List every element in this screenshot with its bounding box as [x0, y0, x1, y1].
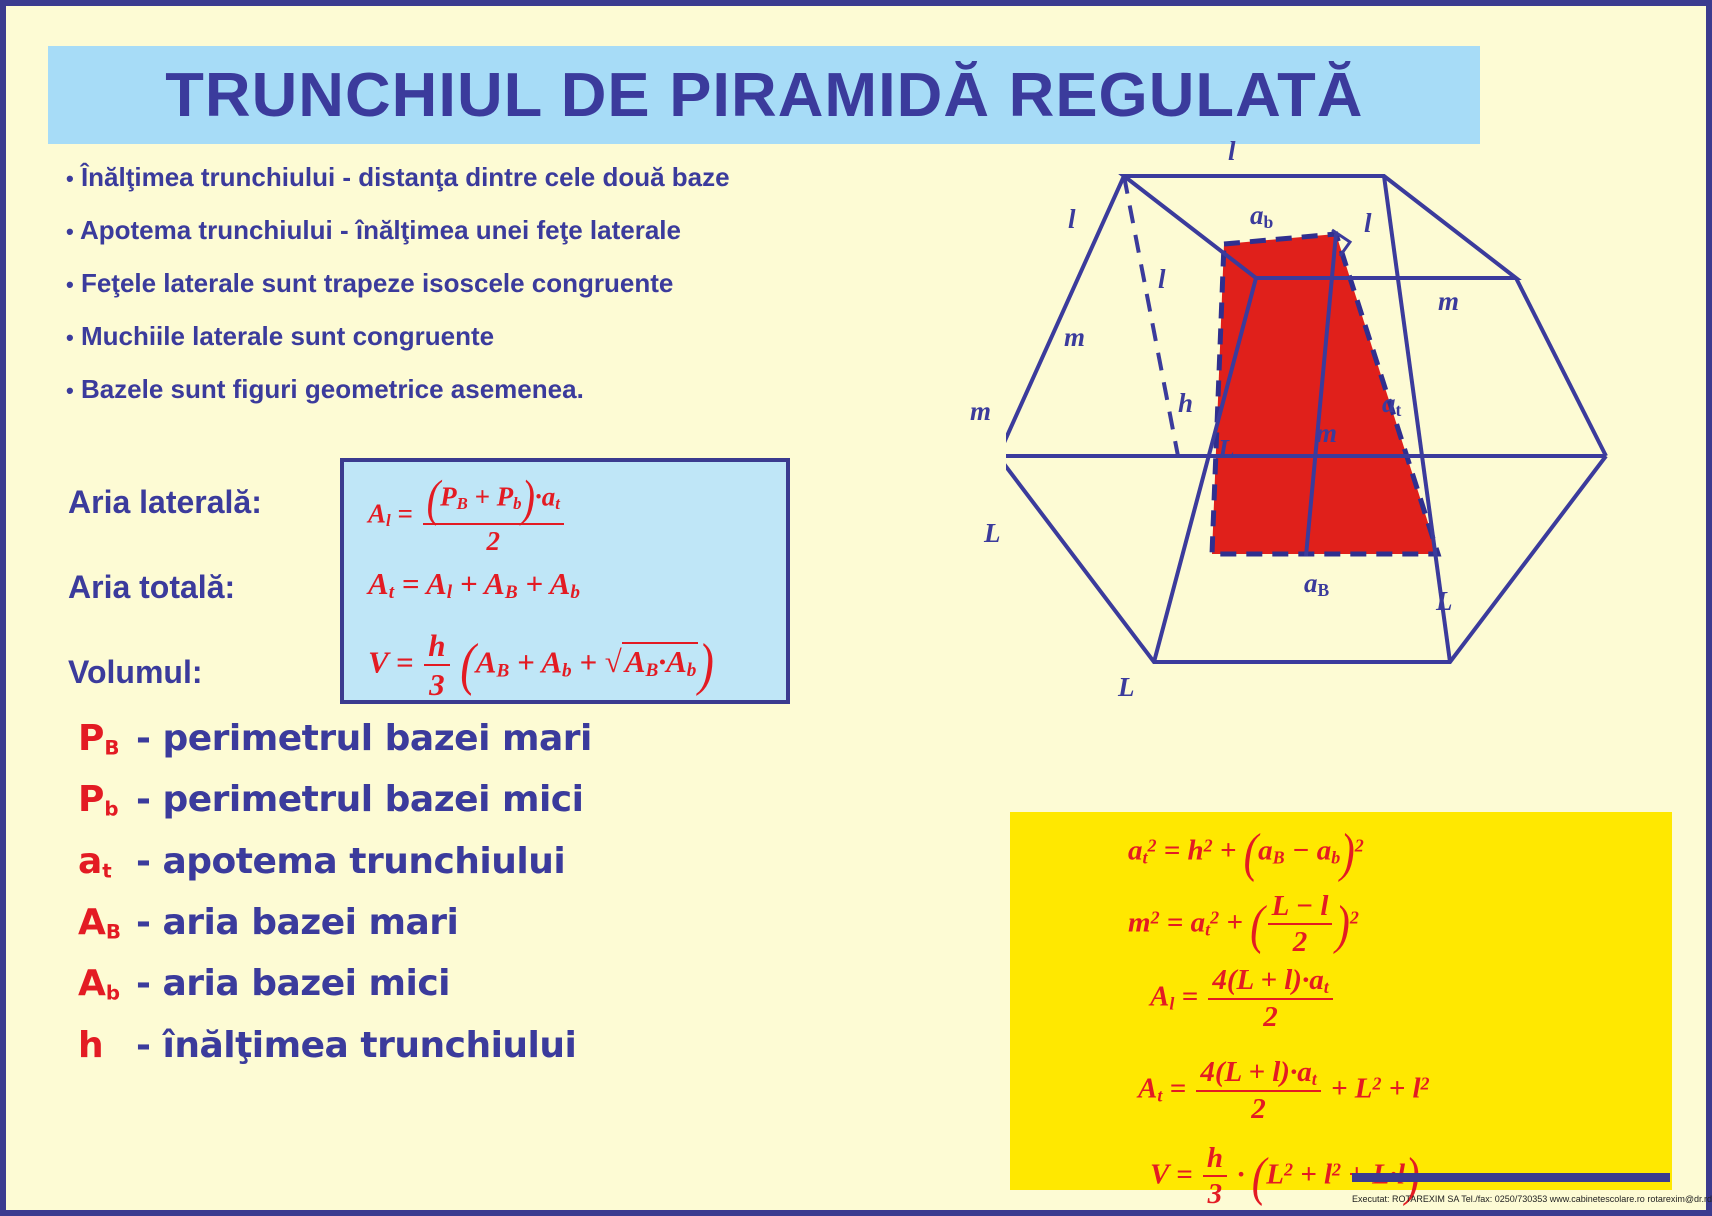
legend-symbol: Pb — [78, 779, 136, 820]
fraction-denominator: 3 — [429, 666, 445, 703]
formula-token: A — [541, 644, 562, 679]
bullet-dot-icon: • — [66, 272, 74, 297]
formula-token: A — [368, 499, 386, 529]
legend-symbol-letter: A — [78, 902, 106, 943]
poster-root: TRUNCHIUL DE PIRAMIDĂ REGULATĂ • Înălţim… — [0, 0, 1712, 1216]
formula-token: = — [1170, 1073, 1187, 1105]
figure-label-h: h — [1178, 388, 1193, 419]
footer-divider — [1352, 1173, 1670, 1182]
fraction-denominator: 2 — [486, 525, 500, 557]
fraction-numerator: 4(L + l)·at — [1208, 964, 1332, 1000]
legend-symbol-letter: A — [78, 963, 106, 1004]
label-volume: Volumul: — [68, 654, 338, 691]
formula-token: + — [460, 566, 478, 601]
list-item: PB - perimetrul bazei mari — [78, 718, 878, 759]
lateral-edge-left — [1006, 176, 1124, 456]
area-labels-group: Aria laterală: Aria totală: Volumul: — [68, 484, 338, 739]
formula-edge-relation: m2 = at2 + ( L − l 2 )2 — [1128, 890, 1359, 960]
fraction: 4(L + l)·at 2 — [1208, 964, 1332, 1034]
list-item: • Apotema trunchiului - înălţimea unei f… — [66, 215, 886, 246]
formula-token: a — [1297, 1056, 1312, 1088]
formula-token: B — [646, 660, 659, 681]
list-item-text: Înălţimea trunchiului - distanţa dintre … — [81, 162, 730, 192]
formula-token: ( — [460, 632, 476, 698]
formula-total-area: At = Al + AB + Ab — [368, 566, 580, 604]
list-item: • Înălţimea trunchiului - distanţa dintr… — [66, 162, 886, 193]
formula-token: ( — [1250, 894, 1265, 957]
formula-token: 2 — [1151, 907, 1160, 927]
formula-token: − — [1295, 890, 1313, 922]
footer-credit: Executat: ROTAREXIM SA Tel./fax: 0250/73… — [1352, 1194, 1682, 1204]
label-lateral-area: Aria laterală: — [68, 484, 338, 521]
fraction: 4(L + l)·at 2 — [1196, 1056, 1320, 1126]
formula-token: + — [1226, 907, 1243, 939]
formula-token: L — [1266, 1159, 1284, 1191]
list-item: • Feţele laterale sunt trapeze isoscele … — [66, 268, 886, 299]
formula-token: ) — [1335, 894, 1350, 957]
formula-token: = — [1176, 1159, 1193, 1191]
square-root: √AB·Ab — [605, 644, 699, 682]
bullet-dot-icon: • — [66, 219, 74, 244]
formula-token: a — [1317, 835, 1332, 867]
formula-token: A — [666, 644, 687, 679]
list-item-text: Feţele laterale sunt trapeze isoscele co… — [81, 268, 673, 298]
figure-label-l-top: l — [1228, 136, 1236, 167]
formula-token: L — [1355, 1073, 1373, 1105]
list-item: • Bazele sunt figuri geometrice asemenea… — [66, 374, 886, 405]
formula-lateral-area-square: Al = 4(L + l)·at 2 — [1150, 964, 1336, 1034]
formula-token: P — [440, 481, 457, 511]
legend-symbol: PB — [78, 718, 136, 759]
formula-token: A — [484, 566, 505, 601]
formula-token: 2 — [1204, 836, 1213, 856]
fraction-numerator: h — [424, 628, 449, 666]
formula-token: ) — [1280, 1056, 1290, 1088]
list-item: Ab - aria bazei mici — [78, 963, 878, 1004]
formula-token: ) — [1340, 822, 1355, 885]
figure-label-a-small: ab — [1250, 200, 1273, 233]
figure-label-l-mid: l — [1158, 264, 1166, 295]
formula-token: = — [1182, 981, 1199, 1013]
legend-symbol-letter: a — [78, 841, 102, 882]
formula-token: + — [1300, 1159, 1317, 1191]
formula-token: 2 — [1332, 1159, 1341, 1179]
formula-token: · — [1237, 1159, 1244, 1191]
title-band: TRUNCHIUL DE PIRAMIDĂ REGULATĂ — [48, 46, 1480, 144]
bullet-dot-icon: • — [66, 166, 74, 191]
list-item-text: Apotema trunchiului - înălţimea unei feţ… — [80, 215, 681, 245]
formula-token: = — [397, 499, 412, 529]
legend-symbol-sub: B — [104, 736, 119, 759]
formula-token: 2 — [1350, 907, 1359, 927]
formula-token: b — [1331, 848, 1340, 868]
formula-token: t — [555, 494, 560, 513]
formula-token: B — [496, 660, 509, 681]
formula-token: 2 — [1210, 907, 1219, 927]
formula-token: B — [1273, 848, 1285, 868]
fraction-numerator: 4(L + l)·at — [1196, 1056, 1320, 1092]
list-item: • Muchiile laterale sunt congruente — [66, 321, 886, 352]
formula-token: l — [447, 582, 452, 603]
formula-token: L — [1272, 890, 1289, 922]
formula-token: ( — [427, 470, 441, 528]
legend-text: - perimetrul bazei mici — [136, 779, 583, 820]
formula-token: = — [402, 566, 420, 601]
formula-token: l — [386, 511, 391, 530]
fraction: h 3 — [1203, 1142, 1227, 1212]
figure-label-l-right: l — [1364, 208, 1372, 239]
legend-symbol-sub: b — [104, 798, 118, 821]
legend-symbol-letter: P — [78, 718, 104, 759]
list-item: Pb - perimetrul bazei mici — [78, 779, 878, 820]
formula-token: + — [579, 644, 597, 679]
formula-token: a — [1128, 835, 1143, 867]
legend-symbol: Ab — [78, 963, 136, 1004]
formula-token: V — [1150, 1159, 1169, 1191]
formula-token: − — [1292, 835, 1310, 867]
properties-list: • Înălţimea trunchiului - distanţa dintr… — [66, 162, 886, 427]
formula-token: A — [1138, 1073, 1157, 1105]
formula-token: 4 — [1200, 1056, 1215, 1088]
formula-token: + — [1331, 1073, 1348, 1105]
formula-token: b — [562, 660, 572, 681]
figure-label-m-center: m — [1316, 418, 1337, 449]
label-total-area: Aria totală: — [68, 569, 338, 606]
legend-symbol-sub: B — [106, 920, 121, 943]
formula-lateral-area: Al = (PB + Pb)·Aat 2 — [368, 476, 567, 557]
legend-symbol: h — [78, 1025, 136, 1066]
list-item: at - apotema trunchiului — [78, 841, 878, 882]
formula-token: l — [1412, 1073, 1420, 1105]
formula-token: a — [1191, 907, 1206, 939]
formula-token: · — [535, 481, 542, 511]
formula-token: a — [1258, 835, 1273, 867]
frustum-diagram: l l l l ab m m m m h at L L aB L L — [1006, 156, 1696, 816]
list-item: h - înălţimea trunchiului — [78, 1025, 878, 1066]
fraction-numerator: h — [1203, 1142, 1227, 1177]
formula-token: A — [476, 644, 497, 679]
formula-token: l — [1169, 994, 1174, 1014]
fraction-numerator: L − l — [1268, 890, 1333, 925]
formula-token: m — [1128, 907, 1151, 939]
formula-token: l — [1320, 890, 1328, 922]
formula-total-area-square: At = 4(L + l)·at 2 + L2 + l2 — [1138, 1056, 1430, 1126]
fraction: h 3 — [424, 628, 449, 702]
formula-token: 2 — [1148, 836, 1157, 856]
formula-token: P — [497, 481, 514, 511]
formula-token: 4 — [1212, 964, 1227, 996]
formula-token: 2 — [1372, 1074, 1381, 1094]
fraction-denominator: 2 — [1263, 1000, 1278, 1034]
lateral-face-highlight — [1212, 234, 1438, 554]
formula-token: 2 — [1355, 836, 1364, 856]
formula-token: ) — [1292, 964, 1302, 996]
fraction-denominator: 3 — [1208, 1177, 1223, 1211]
formula-token: + — [517, 644, 535, 679]
fraction-denominator: 2 — [1293, 925, 1308, 959]
formula-token: A — [368, 566, 389, 601]
legend-symbol: at — [78, 841, 136, 882]
page-title: TRUNCHIUL DE PIRAMIDĂ REGULATĂ — [165, 60, 1363, 131]
formula-token: 2 — [1284, 1159, 1293, 1179]
bullet-dot-icon: • — [66, 378, 74, 403]
list-item-text: Bazele sunt figuri geometrice asemenea. — [81, 374, 584, 404]
legend-text: - aria bazei mari — [136, 902, 458, 943]
square-pyramid-formulas-box: at2 = h2 + (aB − ab)2 m2 = at2 + ( L − l… — [1010, 812, 1672, 1190]
formula-token: + — [1260, 964, 1277, 996]
legend-text: - aria bazei mici — [136, 963, 450, 1004]
formula-token: ( — [1252, 1146, 1267, 1209]
figure-label-L-left: L — [984, 518, 1001, 549]
formula-token: + — [1389, 1073, 1406, 1105]
formula-token: ) — [698, 632, 714, 698]
formula-token: t — [1312, 1069, 1317, 1089]
formula-token: b — [687, 660, 697, 681]
formula-token: ( — [1227, 964, 1237, 996]
list-item: AB - aria bazei mari — [78, 902, 878, 943]
figure-label-a-big: aB — [1304, 568, 1329, 601]
formula-token: L — [1225, 1056, 1242, 1088]
legend-text: - apotema trunchiului — [136, 841, 565, 882]
formula-token: + — [525, 566, 543, 601]
formula-token: + — [474, 481, 489, 511]
fraction-numerator: (PB + Pb)·Aat — [423, 476, 564, 525]
formula-token: A — [550, 566, 571, 601]
formula-token: t — [1157, 1086, 1162, 1106]
frustum-svg — [1006, 156, 1696, 816]
fraction: (PB + Pb)·Aat 2 — [423, 476, 564, 557]
figure-label-m-left: m — [970, 396, 991, 427]
formula-token: a — [542, 481, 556, 511]
fraction: L − l 2 — [1268, 890, 1333, 960]
figure-label-m-inner-left: m — [1064, 322, 1085, 353]
legend-symbol-sub: b — [106, 982, 120, 1005]
formula-token: a — [1309, 964, 1324, 996]
formula-apothem-relation: at2 = h2 + (aB − ab)2 — [1128, 828, 1364, 878]
formula-token: ( — [1215, 1056, 1225, 1088]
formula-token: ) — [522, 470, 536, 528]
formula-volume: V = h 3 (AB + Ab + √AB·Ab) — [368, 628, 714, 702]
formula-token: L — [1237, 964, 1254, 996]
notation-legend: PB - perimetrul bazei mari Pb - perimetr… — [78, 718, 878, 1086]
formula-token: l — [1324, 1159, 1332, 1191]
general-formulas-box: Al = (PB + Pb)·Aat 2 At = Al + AB + Ab V… — [340, 458, 790, 704]
legend-text: - înălţimea trunchiului — [136, 1025, 576, 1066]
formula-token: A — [1150, 981, 1169, 1013]
legend-text: - perimetrul bazei mari — [136, 718, 592, 759]
bullet-dot-icon: • — [66, 325, 74, 350]
list-item-text: Muchiile laterale sunt congruente — [81, 321, 494, 351]
figure-label-l-left: l — [1068, 204, 1076, 235]
formula-token: b — [570, 582, 580, 603]
sqrt-body: AB·Ab — [622, 642, 699, 679]
formula-token: · — [658, 644, 666, 679]
formula-token: t — [389, 582, 394, 603]
figure-label-L-bottom: L — [1118, 672, 1135, 703]
figure-label-m-right: m — [1438, 286, 1459, 317]
formula-token: A — [426, 566, 447, 601]
formula-token: b — [513, 494, 521, 513]
formula-token: = — [1164, 835, 1181, 867]
hidden-edge — [1124, 176, 1178, 456]
formula-token: B — [505, 582, 518, 603]
formula-token: = — [1167, 907, 1184, 939]
formula-token: 2 — [1421, 1074, 1430, 1094]
formula-token: B — [457, 494, 468, 513]
lateral-edge-right — [1516, 278, 1606, 456]
formula-token: t — [1324, 977, 1329, 997]
legend-symbol-sub: t — [102, 859, 111, 882]
figure-label-a-trunc: at — [1382, 388, 1401, 421]
formula-token: + — [1220, 835, 1237, 867]
figure-label-L-right: L — [1436, 586, 1453, 617]
formula-token: h — [1188, 835, 1204, 867]
formula-token: + — [1248, 1056, 1265, 1088]
legend-symbol-letter: h — [78, 1025, 104, 1066]
figure-label-L-inner: L — [1218, 434, 1235, 465]
legend-symbol-letter: P — [78, 779, 104, 820]
formula-token: V — [368, 644, 388, 679]
legend-symbol: AB — [78, 902, 136, 943]
sqrt-icon: √ — [605, 644, 622, 679]
formula-token: = — [396, 644, 414, 679]
fraction-denominator: 2 — [1251, 1092, 1266, 1126]
formula-token: A — [625, 644, 646, 679]
formula-token: ( — [1244, 822, 1259, 885]
